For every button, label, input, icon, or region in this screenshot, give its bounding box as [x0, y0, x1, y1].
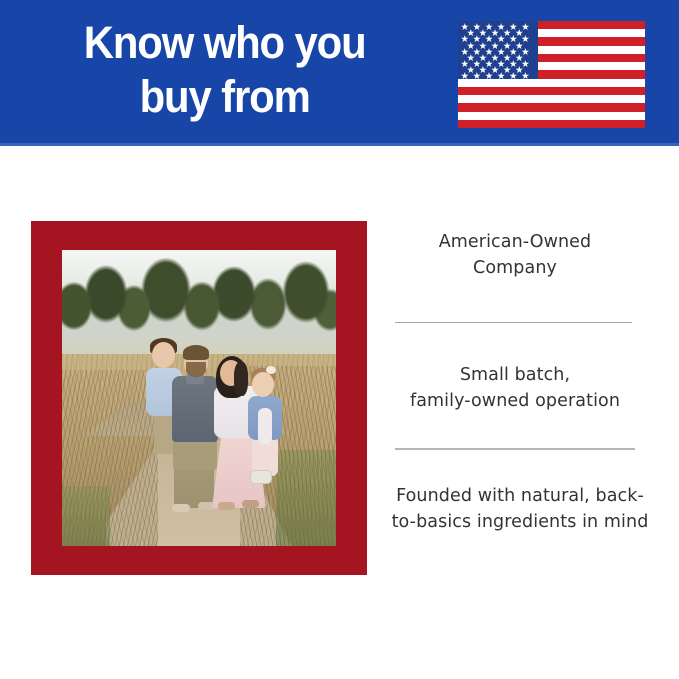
header-underline: [0, 143, 679, 146]
photo-mat-frame: [31, 221, 367, 575]
feature-item-small-batch-family-owned: Small batch, family-owned operation: [380, 362, 650, 414]
feature-divider: [395, 448, 635, 450]
photo-father-hair: [183, 345, 209, 360]
flag-canton: ★★★★★★★★★★★★★★★★★★★★★★★★★★★★★★★★★★★★★★★★…: [458, 21, 538, 79]
photo-girl-bow: [266, 366, 276, 374]
feature-item-american-owned: American-Owned Company: [380, 229, 650, 281]
page-title-line-2: buy from: [34, 70, 415, 124]
page-title: Know who you buy from: [34, 16, 415, 124]
feature-divider: [395, 322, 632, 323]
flag-star-icon: ★: [473, 72, 482, 78]
flag-stripe: [458, 120, 645, 128]
infographic-panel: Know who you buy from ★★★★★★★★★★★★★★★★★★…: [0, 0, 679, 679]
flag-stripe: [458, 103, 645, 111]
photo-father-torso: [172, 376, 218, 442]
flag-star-icon: ★: [497, 72, 506, 78]
photo-mother-foot-left: [218, 502, 235, 510]
photo-father-beard: [186, 362, 206, 377]
flag-star-icon: ★: [509, 72, 518, 78]
photo-mother-arm: [258, 408, 272, 444]
us-flag-icon: ★★★★★★★★★★★★★★★★★★★★★★★★★★★★★★★★★★★★★★★★…: [458, 21, 645, 128]
photo-mother-foot-right: [242, 500, 259, 508]
feature-item-natural-ingredients: Founded with natural, back- to-basics in…: [382, 483, 658, 535]
family-photo: [62, 250, 336, 546]
photo-girl-shoe: [250, 470, 272, 484]
photo-girl-head: [252, 372, 274, 397]
photo-mother-hair-front: [234, 362, 248, 396]
header-banner: Know who you buy from ★★★★★★★★★★★★★★★★★★…: [0, 0, 679, 145]
photo-boy-head: [152, 342, 175, 368]
photo-grass-left: [62, 486, 110, 546]
photo-father-foot-left: [172, 504, 190, 512]
flag-star-icon: ★: [461, 72, 470, 78]
photo-grass-right: [276, 450, 336, 546]
page-title-line-1: Know who you: [34, 16, 415, 70]
flag-stripe: [458, 87, 645, 95]
flag-star-icon: ★: [521, 72, 530, 78]
flag-star-icon: ★: [485, 72, 494, 78]
